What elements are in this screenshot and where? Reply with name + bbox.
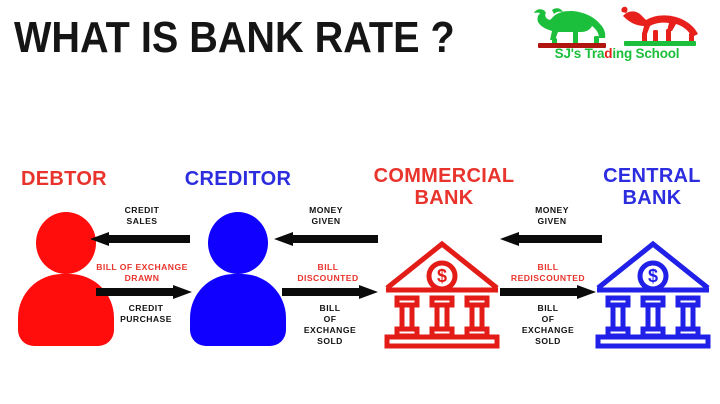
brand-name-part-3: ing School bbox=[612, 46, 679, 61]
flow-label-bill-of-exchange-sold-2: BILL OF EXCHANGE SOLD bbox=[500, 303, 596, 347]
flow-label-credit-purchase: CREDIT PURCHASE bbox=[96, 303, 196, 325]
arrow-head-right bbox=[359, 285, 378, 299]
flow-label-money-given-1: MONEY GIVEN bbox=[280, 205, 372, 227]
dollar-sign-icon: $ bbox=[648, 266, 658, 286]
arrow-shaft bbox=[282, 288, 362, 296]
bank-icon-commercial: $ bbox=[383, 232, 501, 350]
flow-label-bill-rediscounted: BILL REDISCOUNTED bbox=[492, 262, 604, 284]
arrow-shaft bbox=[106, 235, 190, 243]
dollar-sign-icon: $ bbox=[437, 266, 447, 286]
bull-icon bbox=[532, 6, 612, 46]
arrow-debtor-to-creditor bbox=[96, 285, 192, 299]
arrow-credit-sales bbox=[90, 232, 190, 246]
page-title: WHAT IS BANK RATE ? bbox=[14, 12, 455, 64]
node-label-creditor: CREDITOR bbox=[178, 168, 298, 190]
arrow-commercial-bank-to-central-bank bbox=[500, 285, 596, 299]
flow-label-money-given-2: MONEY GIVEN bbox=[506, 205, 598, 227]
arrow-money-given-commercial-to-creditor bbox=[274, 232, 378, 246]
node-label-central-bank: CENTRAL BANK bbox=[588, 165, 716, 209]
arrow-creditor-to-commercial-bank bbox=[282, 285, 378, 299]
flow-label-bill-of-exchange-drawn: BILL OF EXCHANGE DRAWN bbox=[78, 262, 206, 284]
node-label-debtor: DEBTOR bbox=[8, 168, 120, 190]
bear-icon bbox=[620, 6, 702, 46]
arrow-shaft bbox=[96, 288, 176, 296]
brand-logo: SJ's Trading School bbox=[524, 6, 710, 68]
bank-icon-central: $ bbox=[594, 232, 712, 350]
node-label-commercial-bank: COMMERCIAL BANK bbox=[368, 165, 520, 209]
brand-name-part-1: SJ's Tra bbox=[555, 46, 605, 61]
arrow-head-right bbox=[173, 285, 192, 299]
flow-label-credit-sales: CREDIT SALES bbox=[96, 205, 188, 227]
arrow-shaft bbox=[516, 235, 602, 243]
flow-label-bill-discounted: BILL DISCOUNTED bbox=[274, 262, 382, 284]
person-head bbox=[208, 212, 268, 274]
arrow-shaft bbox=[290, 235, 378, 243]
person-body bbox=[190, 274, 286, 346]
arrow-head-right bbox=[577, 285, 596, 299]
flow-label-bill-of-exchange-sold-1: BILL OF EXCHANGE SOLD bbox=[282, 303, 378, 347]
arrow-shaft bbox=[500, 288, 580, 296]
brand-name: SJ's Trading School bbox=[524, 46, 710, 61]
logo-animals bbox=[524, 6, 710, 46]
infographic-canvas: WHAT IS BANK RATE ? bbox=[0, 0, 720, 404]
arrow-money-given-central-to-commercial bbox=[500, 232, 602, 246]
